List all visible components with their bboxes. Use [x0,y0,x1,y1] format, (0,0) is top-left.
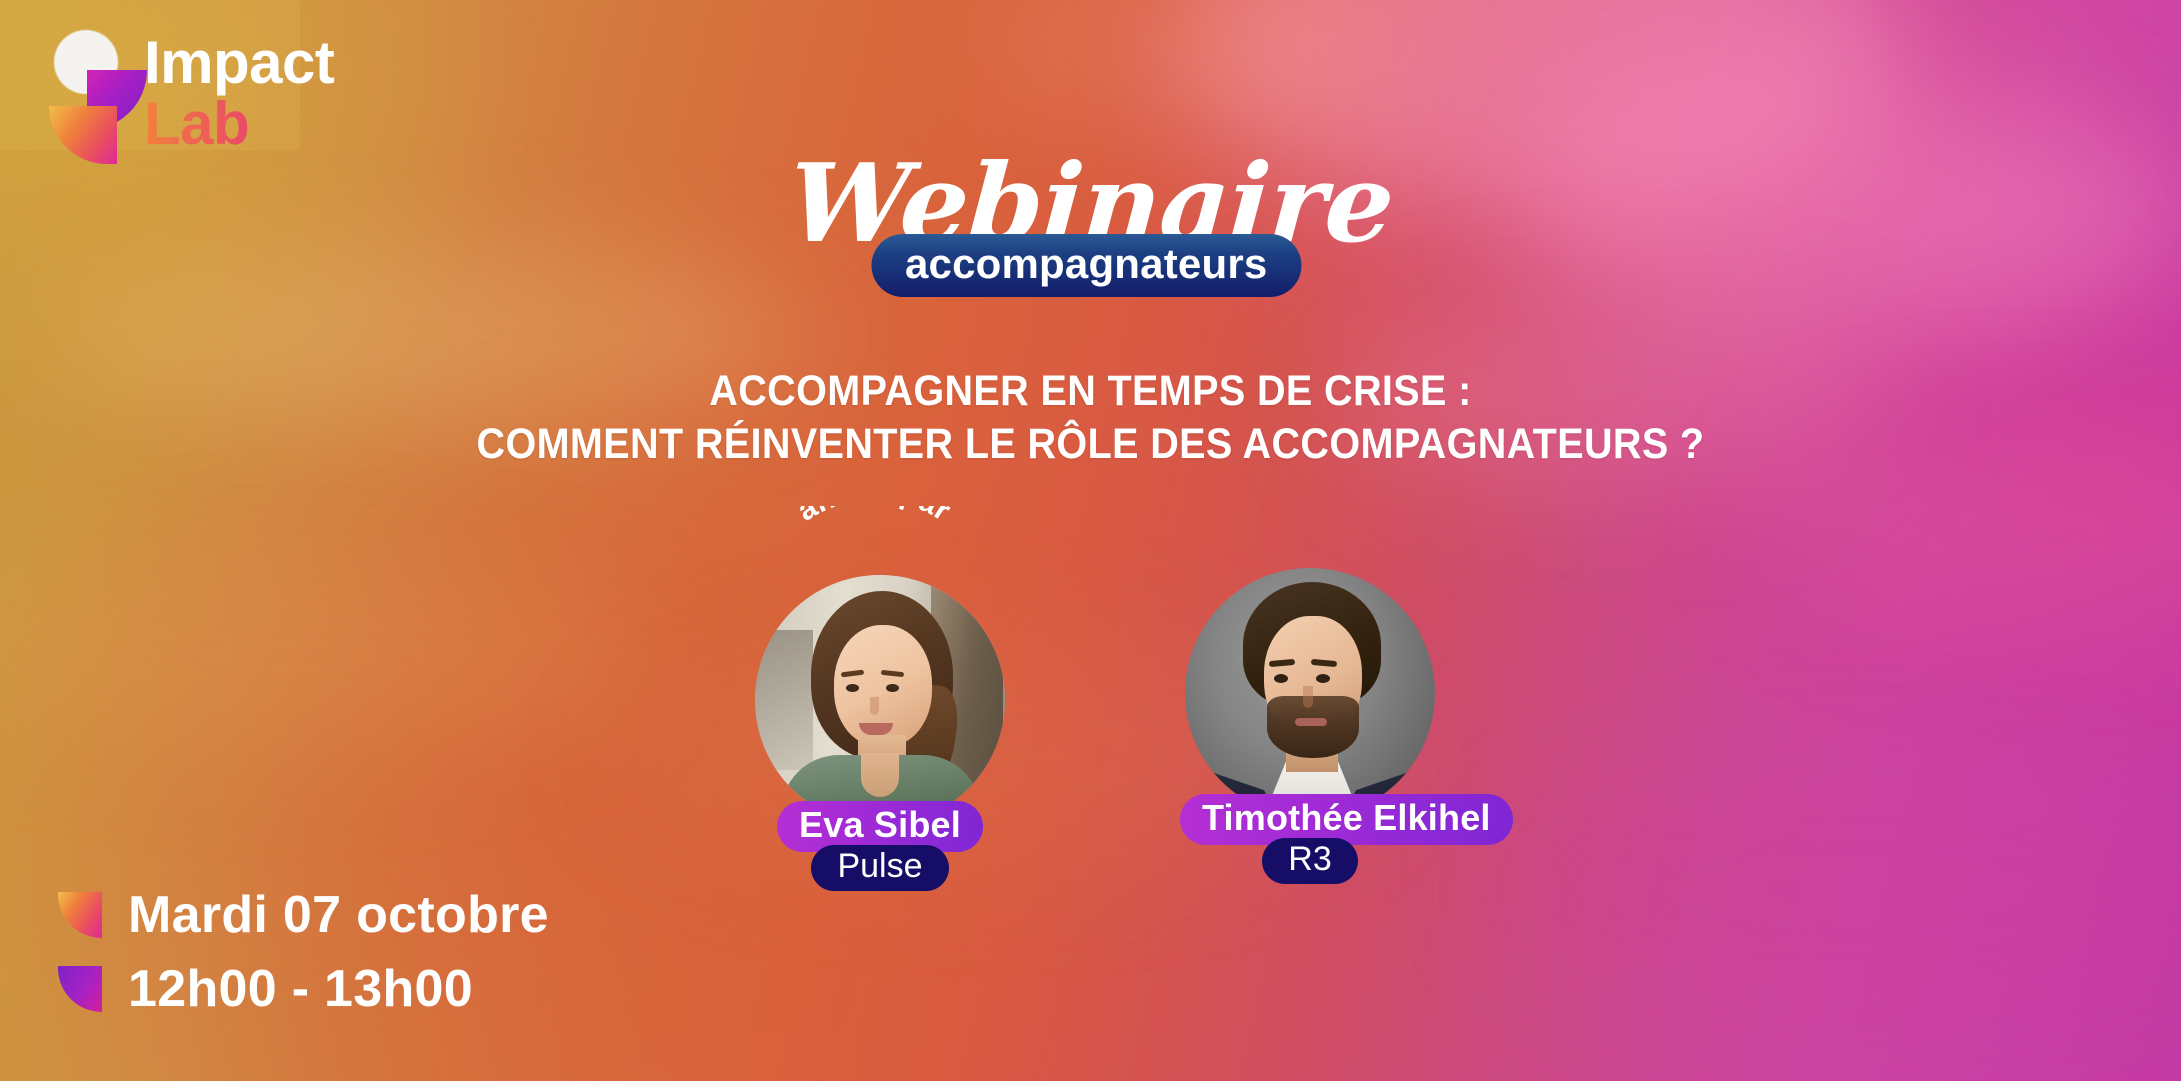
impact-lab-logo[interactable]: Impact Lab [44,28,404,168]
accompagnateurs-badge-label: accompagnateurs [905,243,1267,285]
photo-neckline [861,753,899,797]
speaker-org-pill: R3 [1262,838,1357,885]
photo-nose [1303,686,1313,708]
anime-par-text: animé par [792,506,957,528]
speakers-section: animé par [740,520,1500,940]
speaker-photo-timothee-elkihel [1185,568,1435,818]
speaker-card[interactable]: Timothée Elkihel R3 [1180,568,1440,884]
speaker-org-pill: Pulse [811,845,948,892]
event-date-row: Mardi 07 octobre [58,889,549,941]
logo-impact-text: Impact [144,32,334,93]
event-time-row: 12h00 - 13h00 [58,963,549,1015]
photo-beard [1267,696,1359,758]
date-bullet-icon [58,892,102,938]
speaker-photo-eva-sibel [755,575,1005,825]
headline-line-2: COMMENT RÉINVENTER LE RÔLE DES ACCOMPAGN… [87,418,2094,471]
webinar-promo-banner: Impact Lab Webinaire accompagnateurs ACC… [0,0,2181,1081]
headline-line-1: ACCOMPAGNER EN TEMPS DE CRISE : [87,365,2094,418]
logo-mark-icon [44,28,148,156]
event-time: 12h00 - 13h00 [128,963,473,1015]
accompagnateurs-badge: accompagnateurs [871,234,1301,297]
photo-eye-left [846,684,859,692]
photo-shadow [755,630,813,770]
logo-lab-text: Lab [144,93,334,154]
avatar [1185,568,1435,818]
cloud-wisp [1500,760,2181,1020]
logo-wordmark: Impact Lab [144,32,334,154]
photo-eye-right [886,684,899,692]
speaker-card[interactable]: Eva Sibel Pulse [750,575,1010,891]
photo-eye-right [1316,674,1330,683]
cloud-wisp [0,560,640,750]
speaker-org: R3 [1288,842,1331,878]
avatar [755,575,1005,825]
speaker-org: Pulse [837,849,922,885]
webinaire-header: Webinaire accompagnateurs [0,150,2181,258]
photo-nose [870,697,879,715]
photo-mouth [1295,718,1327,726]
speaker-name-pill: Timothée Elkihel [1180,794,1513,845]
event-details: Mardi 07 octobre 12h00 - 13h00 [58,889,549,1015]
time-bullet-icon [58,966,102,1012]
headline: ACCOMPAGNER EN TEMPS DE CRISE : COMMENT … [87,365,2094,472]
speaker-name: Eva Sibel [799,806,961,844]
cloud-wisp [980,0,1400,140]
speaker-name: Timothée Elkihel [1202,799,1491,837]
photo-eye-left [1274,674,1288,683]
event-date: Mardi 07 octobre [128,889,549,941]
